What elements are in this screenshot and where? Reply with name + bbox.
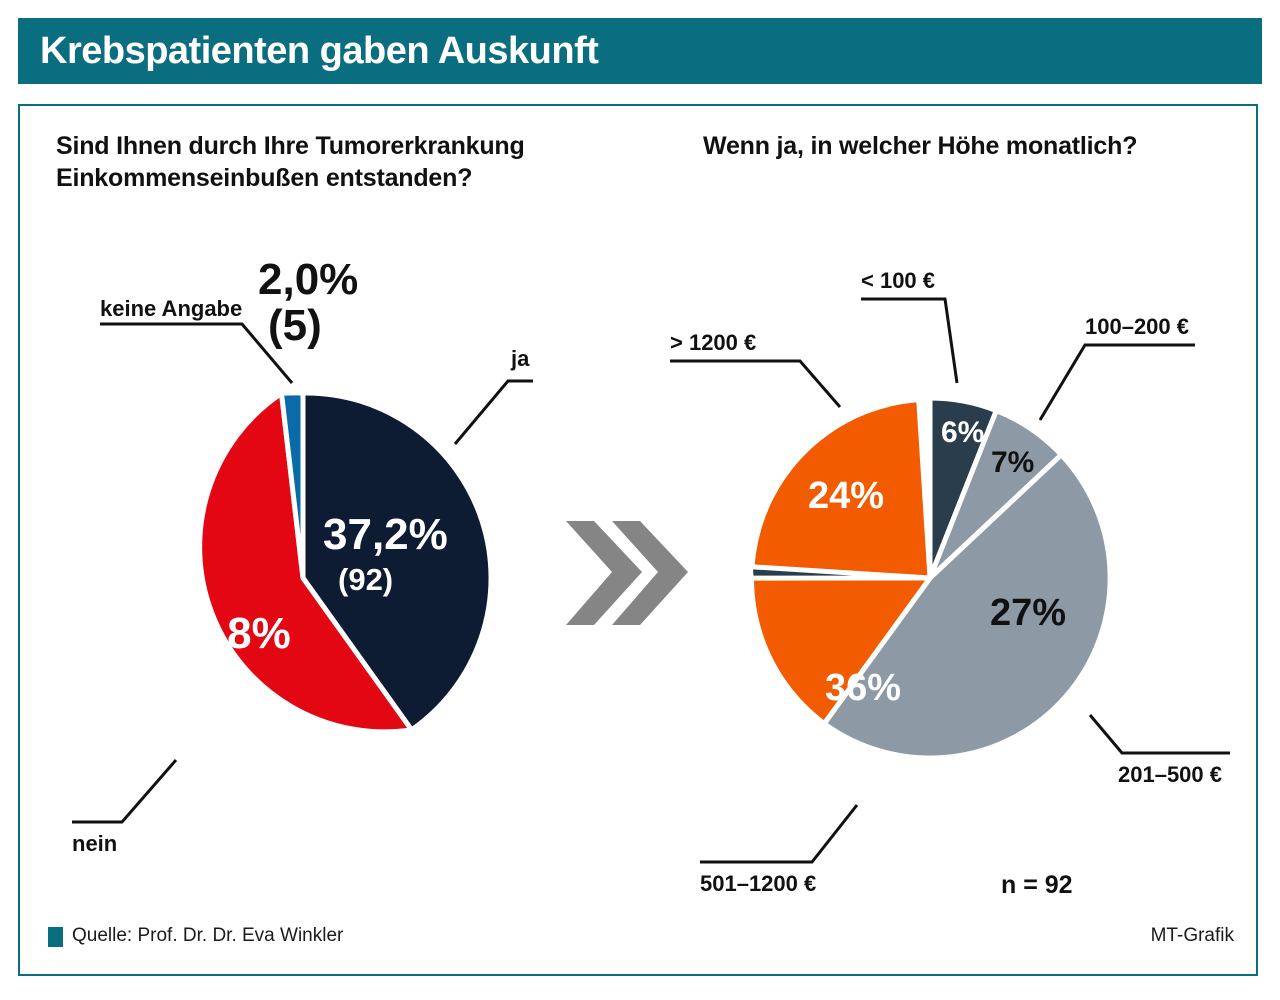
charts-canvas: 37,2% (92) 60,8% (150) 2,0% (5) keine An… (0, 0, 1280, 1000)
callout-501-1200: 501–1200 € (700, 871, 816, 896)
callout-lt100: < 100 € (861, 268, 935, 293)
leader-ja (455, 381, 533, 444)
right-gt1200-pct: 24% (808, 475, 884, 517)
callout-nein: nein (72, 831, 117, 856)
footer: Quelle: Prof. Dr. Dr. Eva Winkler MT-Gra… (20, 920, 1256, 966)
leader-201-500 (1090, 715, 1230, 753)
right-n-label: n = 92 (1001, 871, 1073, 899)
right-501-1200-pct: 36% (825, 667, 901, 709)
infographic-page: Krebspatienten gaben Auskunft Sind Ihnen… (0, 0, 1280, 1000)
left-nein-pct: 60,8% (166, 609, 291, 658)
leader-501-1200 (700, 805, 857, 862)
left-ka-pct: 2,0% (258, 255, 358, 304)
callout-keine-angabe: keine Angabe (100, 296, 242, 321)
left-ja-count: (92) (338, 562, 393, 597)
right-100-200-pct: 7% (991, 446, 1034, 479)
right-lt100-pct: 6% (941, 416, 984, 449)
right-pie-chart: 6% 7% 27% 36% 24% < 100 € 100–200 € 201–… (670, 268, 1230, 899)
leader-keine-angabe (100, 324, 292, 383)
right-201-500-pct: 27% (990, 592, 1066, 634)
callout-201-500: 201–500 € (1118, 762, 1222, 787)
source-swatch-icon (48, 927, 63, 947)
leader-nein (72, 760, 176, 822)
left-ja-pct: 37,2% (323, 510, 448, 559)
left-ka-count: (5) (268, 301, 322, 350)
credit-label: MT-Grafik (1151, 925, 1234, 947)
leader-100-200 (1040, 345, 1195, 420)
leader-lt100 (861, 299, 957, 383)
source-label: Quelle: Prof. Dr. Dr. Eva Winkler (72, 925, 343, 947)
callout-100-200: 100–200 € (1085, 314, 1189, 339)
left-nein-count: (150) (180, 662, 252, 697)
callout-gt1200: > 1200 € (670, 330, 756, 355)
left-pie-chart: 37,2% (92) 60,8% (150) 2,0% (5) keine An… (72, 255, 533, 856)
callout-ja: ja (510, 346, 530, 371)
double-chevron-icon (566, 521, 688, 625)
leader-gt1200 (670, 361, 840, 407)
